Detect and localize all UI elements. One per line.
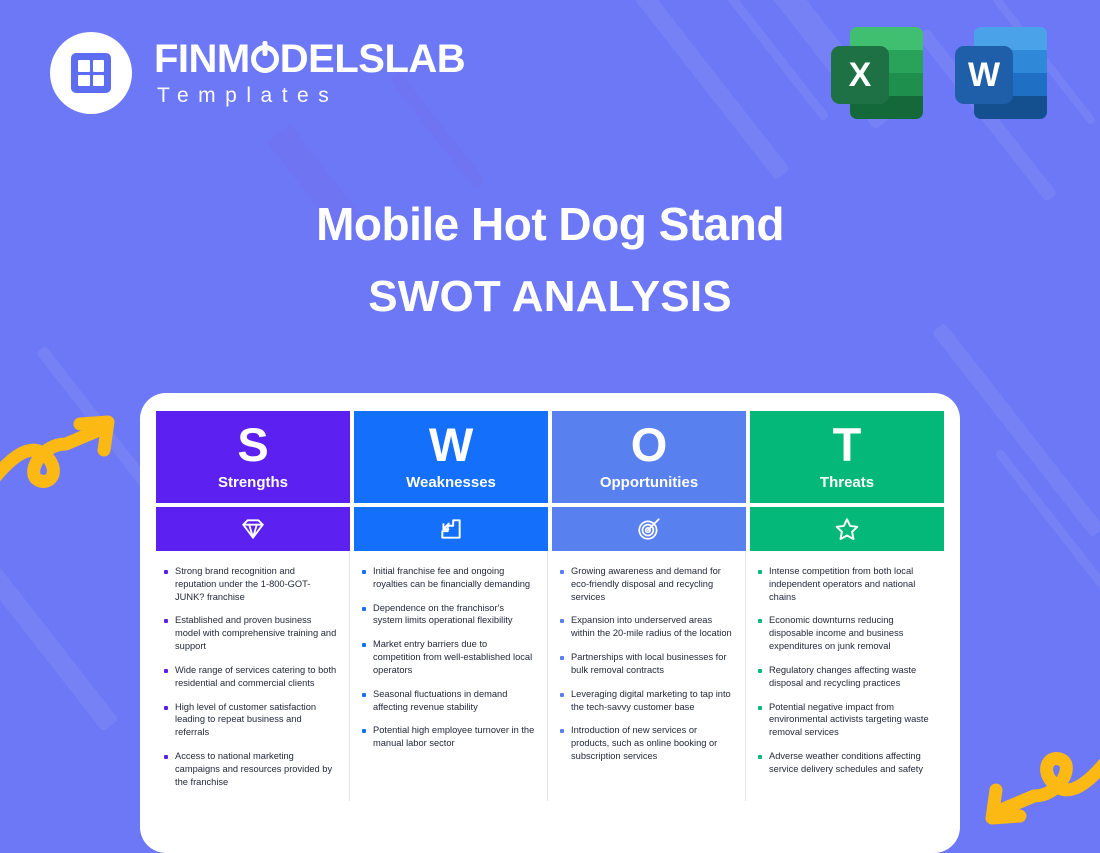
list-item: Market entry barriers due to competition…	[362, 638, 535, 676]
bullet-icon	[362, 607, 366, 611]
bullet-icon	[164, 570, 168, 574]
bullet-icon	[560, 729, 564, 733]
bullet-icon	[164, 619, 168, 623]
bullet-icon	[560, 656, 564, 660]
bullet-icon	[362, 729, 366, 733]
list-item: Potential high employee turnover in the …	[362, 724, 535, 750]
list-item: Initial franchise fee and ongoing royalt…	[362, 565, 535, 591]
list-item: Leveraging digital marketing to tap into…	[560, 688, 733, 714]
list-item: Seasonal fluctuations in demand affectin…	[362, 688, 535, 714]
swot-label-strengths: Strengths	[218, 474, 288, 491]
swot-body-weaknesses: Initial franchise fee and ongoing royalt…	[354, 551, 548, 801]
swot-letter-t: T	[833, 423, 862, 468]
squiggle-arrow-down-left-icon	[976, 744, 1100, 841]
swot-label-threats: Threats	[820, 474, 874, 491]
bullet-icon	[362, 570, 366, 574]
bullet-icon	[758, 706, 762, 710]
list-item: Regulatory changes affecting waste dispo…	[758, 664, 932, 690]
brand-subtitle: Templates	[157, 84, 465, 108]
bullet-icon	[362, 693, 366, 697]
star-icon	[750, 507, 944, 551]
list-item: Wide range of services catering to both …	[164, 664, 337, 690]
list-item: Economic downturns reducing disposable i…	[758, 614, 932, 652]
office-icons: X W	[831, 27, 1047, 119]
swot-header-opportunities[interactable]: O Opportunities	[552, 411, 746, 503]
swot-body-threats: Intense competition from both local inde…	[750, 551, 944, 801]
swot-header-row: S Strengths W Weaknesses O Opportunities…	[156, 411, 944, 503]
bullet-icon	[560, 693, 564, 697]
bullet-icon	[164, 755, 168, 759]
page-header: FINM DELSLAB Templates X W	[0, 0, 1100, 150]
swot-header-threats[interactable]: T Threats	[750, 411, 944, 503]
swot-label-opportunities: Opportunities	[600, 474, 698, 491]
bullet-icon	[758, 619, 762, 623]
bullet-icon	[758, 755, 762, 759]
list-item: Partnerships with local businesses for b…	[560, 651, 733, 677]
swot-letter-w: W	[429, 423, 473, 468]
word-icon[interactable]: W	[955, 27, 1047, 119]
list-item: Potential negative impact from environme…	[758, 701, 932, 739]
list-item: Intense competition from both local inde…	[758, 565, 932, 603]
bullet-icon	[560, 570, 564, 574]
swot-card: S Strengths W Weaknesses O Opportunities…	[140, 393, 960, 853]
bullet-icon	[164, 669, 168, 673]
excel-icon[interactable]: X	[831, 27, 923, 119]
swot-icon-row	[156, 503, 944, 551]
power-symbol-o-icon	[251, 45, 279, 73]
list-item: High level of customer satisfaction lead…	[164, 701, 337, 739]
brand-name-part1: FINM	[154, 38, 250, 80]
page-subtitle: SWOT ANALYSIS	[0, 272, 1100, 322]
bullet-icon	[362, 643, 366, 647]
bullet-icon	[758, 570, 762, 574]
swot-body-strengths: Strong brand recognition and reputation …	[156, 551, 350, 801]
diamond-icon	[156, 507, 350, 551]
page-title: Mobile Hot Dog Stand	[0, 196, 1100, 254]
bullet-icon	[164, 706, 168, 710]
list-item: Adverse weather conditions affecting ser…	[758, 750, 932, 776]
swot-header-strengths[interactable]: S Strengths	[156, 411, 350, 503]
list-item: Introduction of new services or products…	[560, 724, 733, 762]
brand-name: FINM DELSLAB	[154, 38, 465, 80]
target-arrow-icon	[552, 507, 746, 551]
list-item: Strong brand recognition and reputation …	[164, 565, 337, 603]
grid-squares-icon	[71, 53, 111, 93]
excel-icon-letter: X	[831, 46, 889, 104]
word-icon-letter: W	[955, 46, 1013, 104]
brand-badge	[50, 32, 132, 114]
brand-name-part2: DELSLAB	[280, 38, 465, 80]
brand-logo[interactable]: FINM DELSLAB Templates	[50, 32, 465, 114]
bullet-icon	[560, 619, 564, 623]
swot-body-row: Strong brand recognition and reputation …	[156, 551, 944, 801]
swot-letter-s: S	[237, 423, 268, 468]
list-item: Dependence on the franchisor's system li…	[362, 602, 535, 628]
title-block: Mobile Hot Dog Stand SWOT ANALYSIS	[0, 196, 1100, 322]
squiggle-arrow-up-right-icon	[0, 404, 124, 501]
list-item: Expansion into underserved areas within …	[560, 614, 733, 640]
list-item: Established and proven business model wi…	[164, 614, 337, 652]
descending-stairs-arrow-icon	[354, 507, 548, 551]
list-item: Access to national marketing campaigns a…	[164, 750, 337, 788]
list-item: Growing awareness and demand for eco-fri…	[560, 565, 733, 603]
swot-letter-o: O	[631, 423, 668, 468]
swot-label-weaknesses: Weaknesses	[406, 474, 496, 491]
swot-body-opportunities: Growing awareness and demand for eco-fri…	[552, 551, 746, 801]
swot-header-weaknesses[interactable]: W Weaknesses	[354, 411, 548, 503]
bullet-icon	[758, 669, 762, 673]
